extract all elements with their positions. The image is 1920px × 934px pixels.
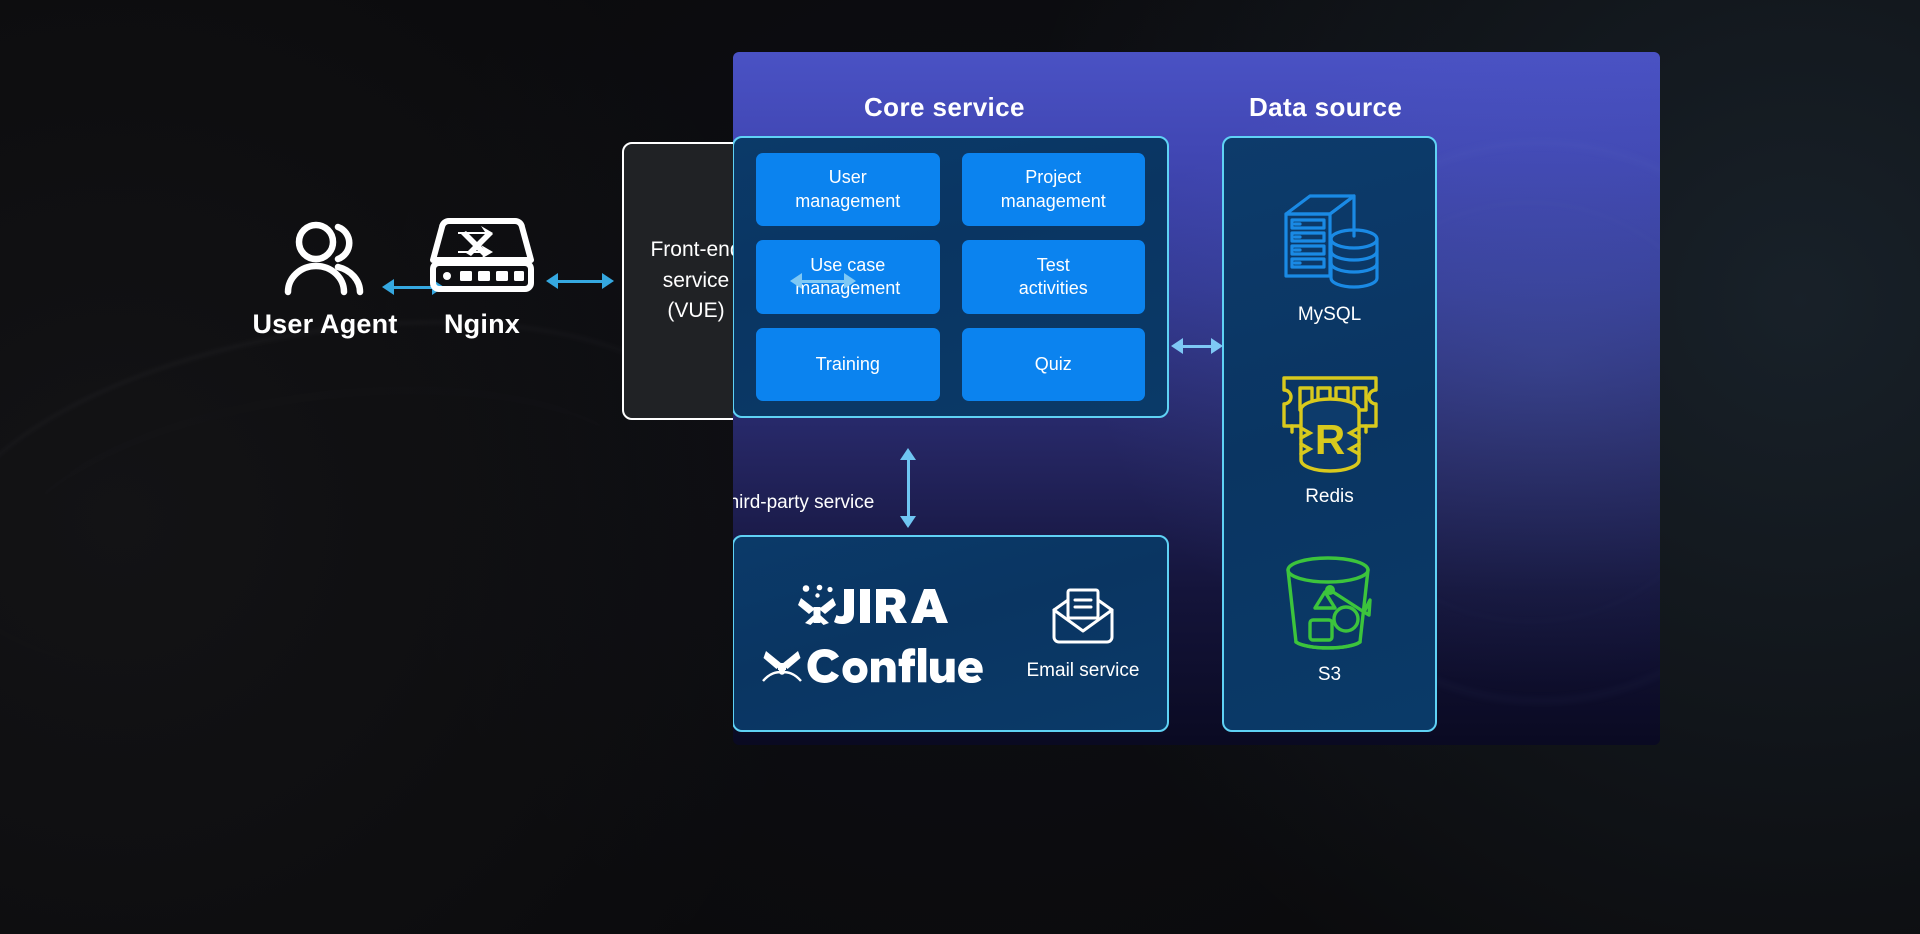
confluence-logo[interactable] xyxy=(760,647,984,685)
arrow-head-right xyxy=(602,273,614,289)
architecture-panel: Core service Data source User management… xyxy=(733,52,1660,745)
arrow-head-left xyxy=(1171,338,1183,354)
data-source-box: MySQL xyxy=(1222,136,1437,732)
arrow-shaft xyxy=(1183,345,1211,348)
arrow-head-right xyxy=(844,273,856,289)
third-party-connector-label: Third-party service xyxy=(733,492,874,514)
arrow-head-left xyxy=(546,273,558,289)
left-flow-cluster: User Agent xyxy=(240,230,530,380)
service-button-quiz[interactable]: Quiz xyxy=(962,328,1146,401)
data-source-item-s3[interactable]: S3 xyxy=(1274,552,1386,686)
data-source-item-redis[interactable]: R Redis xyxy=(1270,370,1390,508)
service-button-test-activities[interactable]: Test activities xyxy=(962,240,1146,313)
nginx-label: Nginx xyxy=(422,309,542,340)
jira-logo[interactable] xyxy=(786,583,958,625)
mysql-label: MySQL xyxy=(1298,304,1361,326)
service-button-user-management[interactable]: User management xyxy=(756,153,940,226)
arrow-frontend-to-core xyxy=(790,272,856,290)
s3-label: S3 xyxy=(1318,664,1341,686)
arrow-shaft xyxy=(558,280,602,283)
arrow-head-down xyxy=(900,516,916,528)
frontend-service-label: Front-end service (VUE) xyxy=(650,235,741,326)
arrow-core-to-third-party xyxy=(899,448,917,528)
arrow-head-left xyxy=(790,273,802,289)
arrow-head-right xyxy=(1211,338,1223,354)
email-envelope-icon xyxy=(1049,586,1117,650)
user-agent-label: User Agent xyxy=(240,309,410,340)
redis-memory-icon: R xyxy=(1270,370,1390,478)
core-service-title: Core service xyxy=(864,92,1025,123)
s3-bucket-icon xyxy=(1274,552,1386,656)
redis-label: Redis xyxy=(1305,486,1354,508)
arrow-shaft xyxy=(907,460,910,516)
arrow-nginx-to-frontend xyxy=(546,272,614,290)
mysql-server-database-icon xyxy=(1270,184,1390,296)
arrow-core-to-data-source xyxy=(1171,337,1223,355)
third-party-service-box: Email service xyxy=(733,535,1169,732)
atlassian-logos-column xyxy=(734,583,999,685)
nginx-switch-icon xyxy=(422,215,542,297)
service-button-training[interactable]: Training xyxy=(756,328,940,401)
diagram-canvas: User Agent xyxy=(0,0,1920,934)
data-source-item-mysql[interactable]: MySQL xyxy=(1270,184,1390,326)
arrow-head-left xyxy=(382,279,394,295)
arrow-head-up xyxy=(900,448,916,460)
data-source-title: Data source xyxy=(1249,92,1402,123)
service-button-project-management[interactable]: Project management xyxy=(962,153,1146,226)
email-service-item[interactable]: Email service xyxy=(999,586,1167,682)
email-service-label: Email service xyxy=(1027,660,1140,682)
arrow-shaft xyxy=(802,280,844,283)
svg-text:R: R xyxy=(1314,416,1344,463)
background-swoosh-decoration-2 xyxy=(0,357,663,683)
node-nginx[interactable]: Nginx xyxy=(422,215,542,340)
